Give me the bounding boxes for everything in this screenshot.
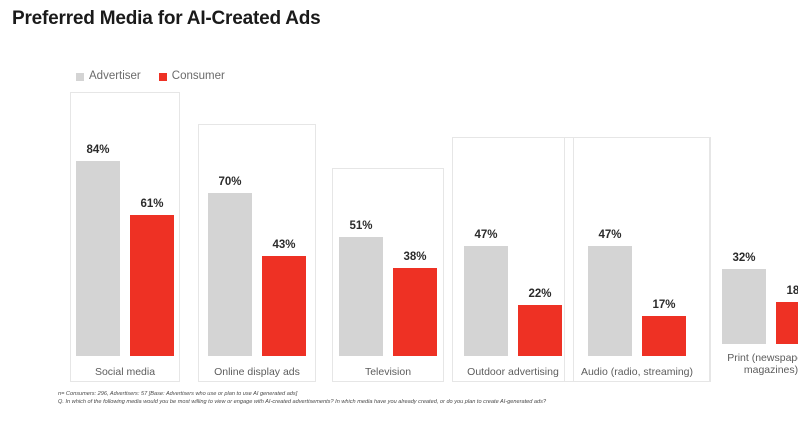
legend-swatch-consumer-icon [159, 73, 167, 81]
bar-rect-consumer [262, 256, 306, 356]
bar-group-audio: 47% 17% Audio (radio, streaming) [564, 137, 710, 382]
bar-value-consumer: 22% [528, 289, 551, 301]
bar-advertiser: 70% [208, 156, 252, 356]
bar-rect-consumer [130, 215, 174, 356]
bar-group-label: Television [334, 366, 442, 378]
bar-group-bars: 51% 38% [332, 198, 444, 356]
bar-consumer: 18% [776, 169, 798, 344]
legend-item-consumer: Consumer [159, 71, 225, 83]
chart-page: Preferred Media for AI-Created Ads Adver… [0, 0, 798, 425]
bar-value-consumer: 61% [140, 199, 163, 211]
bar-consumer: 22% [518, 169, 562, 356]
bar-group-outdoor-advertising: 47% 22% Outdoor advertising [452, 137, 574, 382]
bar-advertiser: 51% [339, 198, 383, 356]
bar-value-consumer: 17% [652, 300, 675, 312]
bar-group-label: Social media [72, 366, 178, 378]
chart-footnotes: n= Consumers: 296, Advertisers: 57 [Base… [58, 390, 758, 406]
chart-plot-area: 84% 61% Social media 70% 43% [70, 92, 786, 382]
bar-consumer: 17% [642, 169, 686, 356]
footnote-base: n= Consumers: 296, Advertisers: 57 [Base… [58, 390, 758, 398]
bar-rect-consumer [393, 268, 437, 356]
bar-rect-advertiser [588, 246, 632, 356]
bar-group-bars: 70% 43% [198, 156, 316, 356]
bar-group-online-display-ads: 70% 43% Online display ads [198, 124, 316, 382]
bar-group-bars: 47% 22% [452, 169, 574, 356]
bar-advertiser: 84% [76, 124, 120, 356]
bar-rect-advertiser [339, 237, 383, 356]
bar-value-advertiser: 32% [732, 253, 755, 265]
bar-rect-consumer [776, 302, 798, 344]
bar-value-advertiser: 70% [218, 177, 241, 189]
bar-group-label: Audio (radio, streaming) [566, 366, 708, 378]
bar-group-television: 51% 38% Television [332, 168, 444, 382]
bar-value-consumer: 38% [403, 252, 426, 264]
page-title: Preferred Media for AI-Created Ads [12, 8, 321, 30]
bar-group-bars: 32% 18% [710, 169, 798, 344]
legend-label-consumer: Consumer [172, 71, 225, 83]
bar-advertiser: 47% [464, 169, 508, 356]
bar-advertiser: 47% [588, 169, 632, 356]
bar-value-advertiser: 47% [474, 230, 497, 242]
legend-label-advertiser: Advertiser [89, 71, 141, 83]
bar-group-label: Outdoor advertising [454, 366, 572, 378]
bar-rect-consumer [642, 316, 686, 356]
bar-group-bars: 47% 17% [564, 169, 710, 356]
bar-group-label: Print (newspapers, magazines) [712, 352, 798, 376]
bar-rect-consumer [518, 305, 562, 356]
bar-value-consumer: 18% [786, 286, 798, 298]
bar-group-bars: 84% 61% [70, 124, 180, 356]
bar-rect-advertiser [722, 269, 766, 344]
bar-value-advertiser: 47% [598, 230, 621, 242]
bar-consumer: 61% [130, 124, 174, 356]
bar-advertiser: 32% [722, 169, 766, 344]
bar-group-social-media: 84% 61% Social media [70, 92, 180, 382]
bar-consumer: 38% [393, 198, 437, 356]
legend-item-advertiser: Advertiser [76, 71, 141, 83]
bar-consumer: 43% [262, 156, 306, 356]
bar-rect-advertiser [464, 246, 508, 356]
bar-rect-advertiser [208, 193, 252, 356]
legend-swatch-advertiser-icon [76, 73, 84, 81]
bar-group-label: Online display ads [200, 366, 314, 378]
chart-legend: Advertiser Consumer [76, 70, 225, 84]
bar-rect-advertiser [76, 161, 120, 356]
bar-group-print: 32% 18% Print (newspapers, magazines) [710, 137, 798, 382]
bar-value-advertiser: 51% [349, 221, 372, 233]
bar-value-advertiser: 84% [86, 145, 109, 157]
footnote-question: Q. In which of the following media would… [58, 398, 758, 406]
bar-value-consumer: 43% [272, 240, 295, 252]
